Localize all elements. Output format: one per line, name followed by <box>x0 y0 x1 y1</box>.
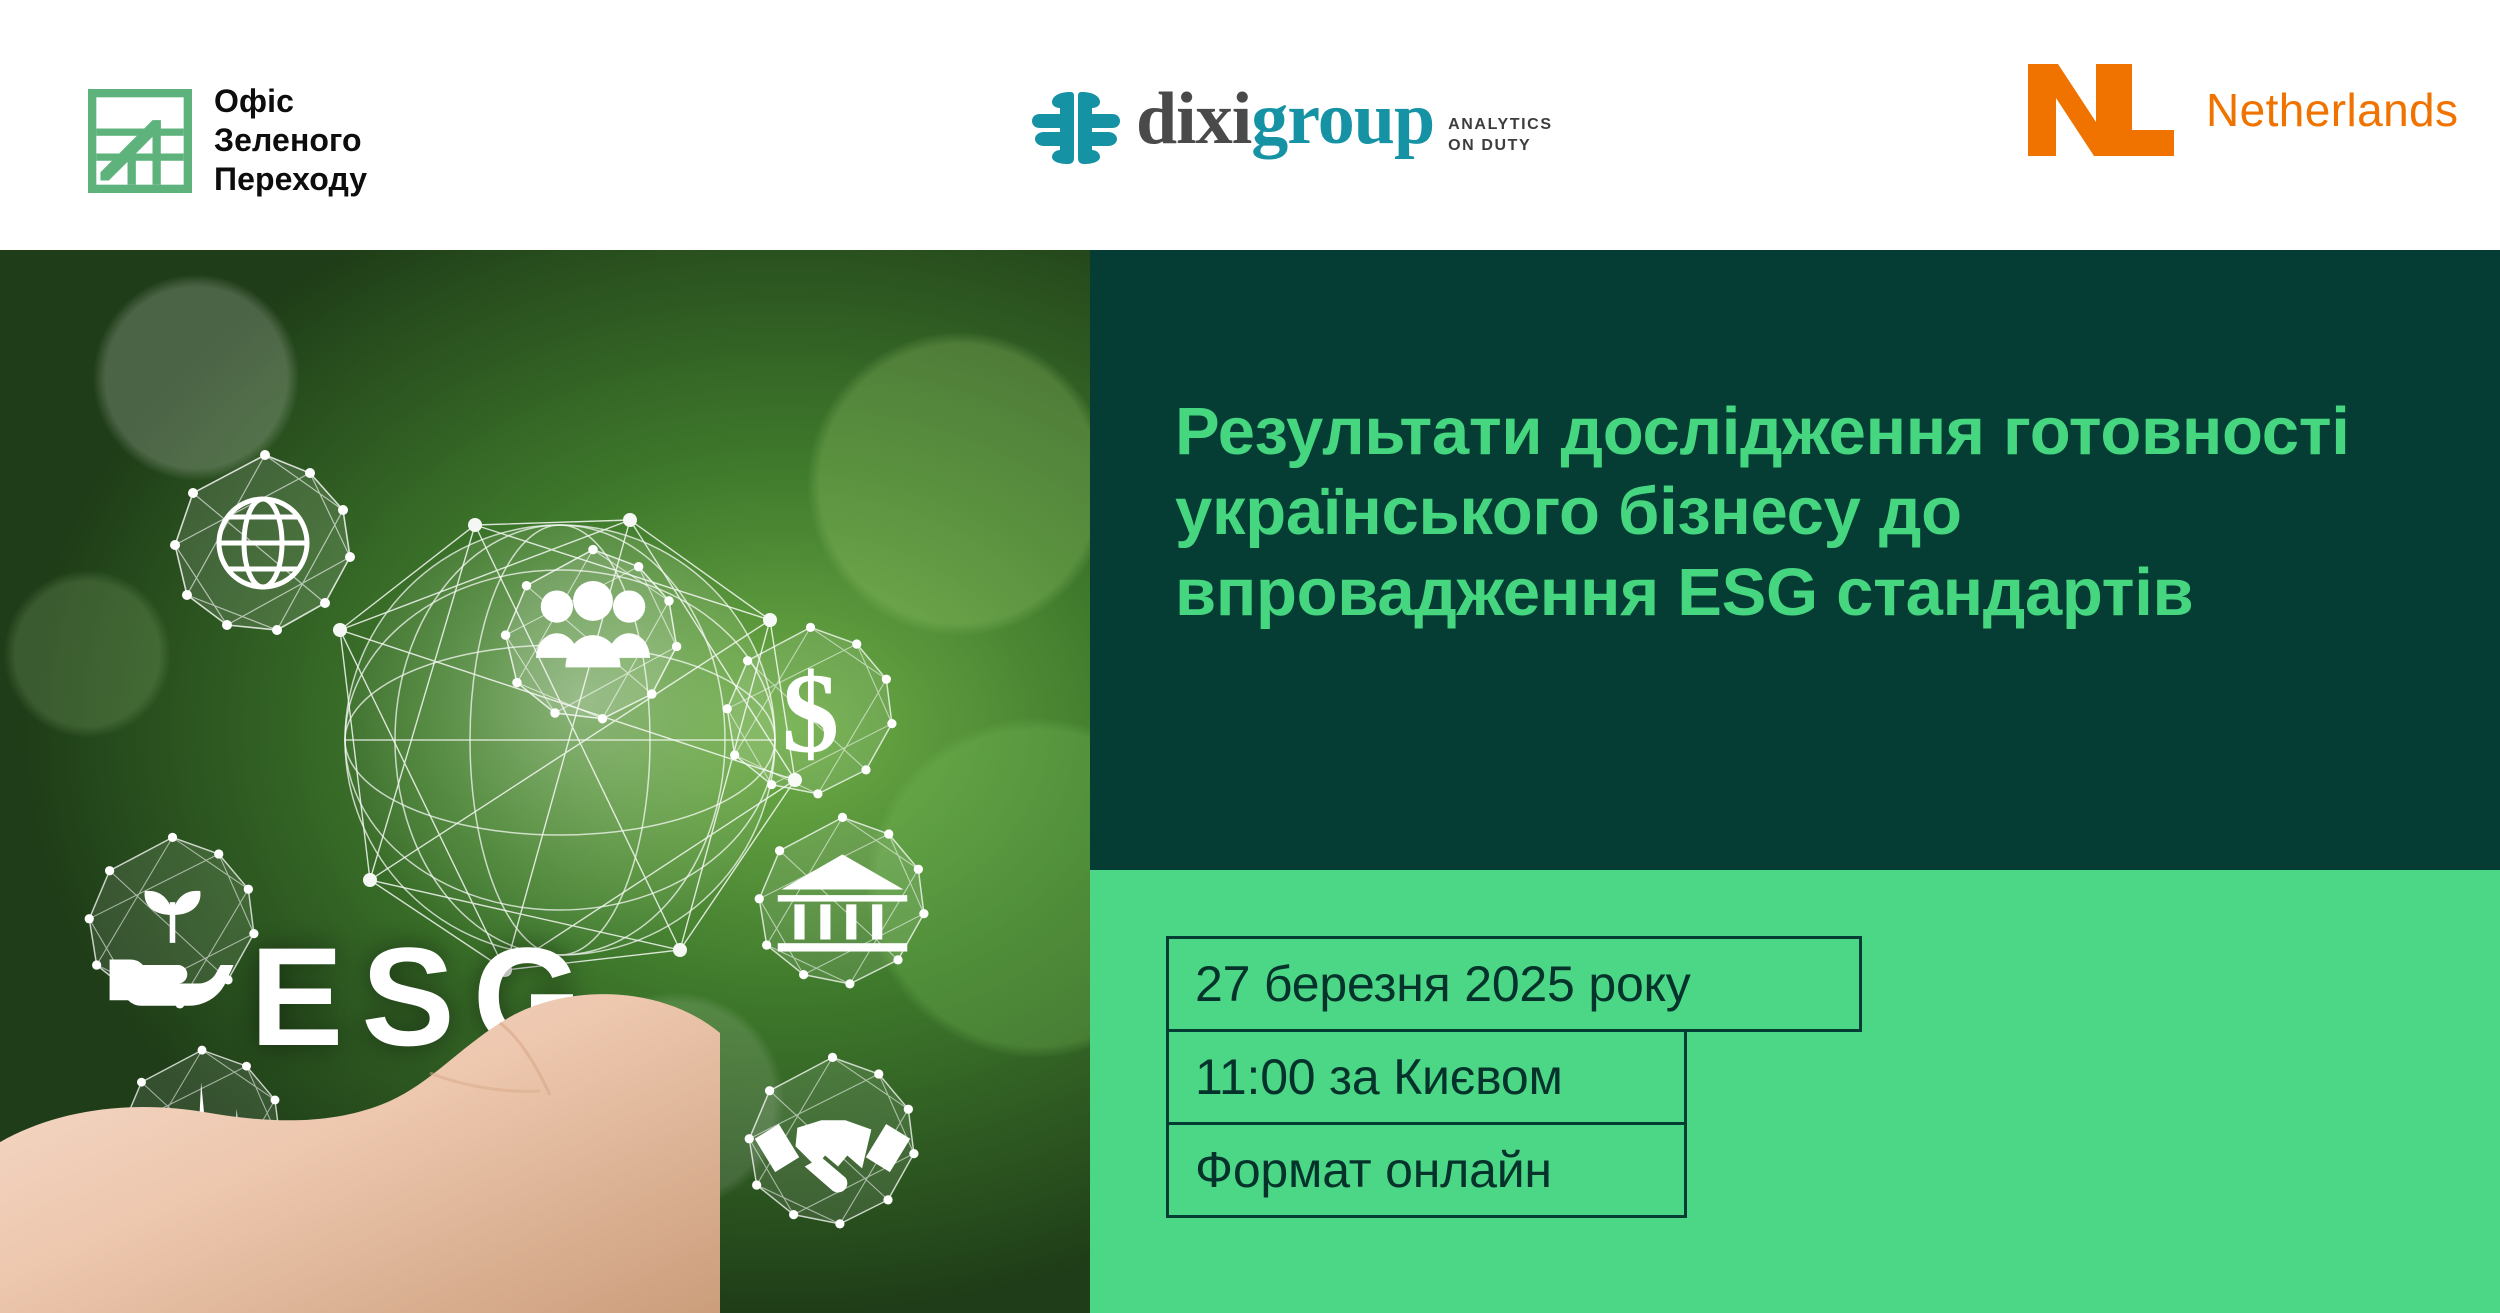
netherlands-wordmark: Netherlands <box>2206 83 2458 137</box>
event-details-list: 27 березня 2025 року 11:00 за Києвом Фор… <box>1166 936 1862 1218</box>
tagline-line-1: ANALYTICS <box>1448 114 1553 135</box>
banner-root: Офіс Зеленого Переходу dixigroup ANALYTI… <box>0 0 2500 1313</box>
dixigroup-wordmark: dixigroup <box>1136 84 1434 154</box>
dixigroup-mark-icon <box>1030 88 1122 164</box>
logo-netherlands[interactable]: Netherlands <box>2020 60 2458 160</box>
header-bar: Офіс Зеленого Переходу dixigroup ANALYTI… <box>0 0 2500 250</box>
badge-dollar: $ <box>718 620 903 805</box>
event-date: 27 березня 2025 року <box>1166 936 1862 1032</box>
ozp-line-1: Офіс <box>214 82 367 121</box>
badge-globe <box>165 445 365 645</box>
green-transition-office-wordmark: Офіс Зеленого Переходу <box>214 82 367 199</box>
svg-text:$: $ <box>782 649 839 776</box>
badge-handshake <box>740 1050 925 1235</box>
event-date-label: 27 березня 2025 року <box>1195 955 1691 1013</box>
dixigroup-tagline: ANALYTICS ON DUTY <box>1448 114 1553 156</box>
tagline-line-2: ON DUTY <box>1448 135 1553 156</box>
logo-green-transition-office[interactable]: Офіс Зеленого Переходу <box>88 82 367 199</box>
bank-icon <box>750 810 935 995</box>
ozp-line-2: Зеленого <box>214 121 367 160</box>
page-title: Результати дослідження готовності україн… <box>1175 392 2425 633</box>
dollar-icon: $ <box>718 620 903 805</box>
dixi-word-part: dixi <box>1136 78 1251 160</box>
hero-photo: ESG <box>0 250 1090 1313</box>
event-format: Формат онлайн <box>1166 1122 1687 1218</box>
group-word-part: group <box>1251 78 1434 160</box>
hand-illustration <box>0 833 720 1313</box>
netherlands-nl-monogram-icon <box>2020 60 2180 160</box>
globe-icon <box>165 445 365 645</box>
logo-dixigroup[interactable]: dixigroup ANALYTICS ON DUTY <box>1030 84 1553 164</box>
event-time-label: 11:00 за Києвом <box>1195 1048 1563 1106</box>
event-format-label: Формат онлайн <box>1195 1141 1552 1199</box>
people-icon <box>498 542 688 732</box>
event-time: 11:00 за Києвом <box>1166 1029 1687 1125</box>
ozp-line-3: Переходу <box>214 160 367 199</box>
green-transition-office-mark-icon <box>88 89 192 193</box>
badge-bank <box>750 810 935 995</box>
handshake-icon <box>740 1050 925 1235</box>
badge-people <box>498 542 688 732</box>
